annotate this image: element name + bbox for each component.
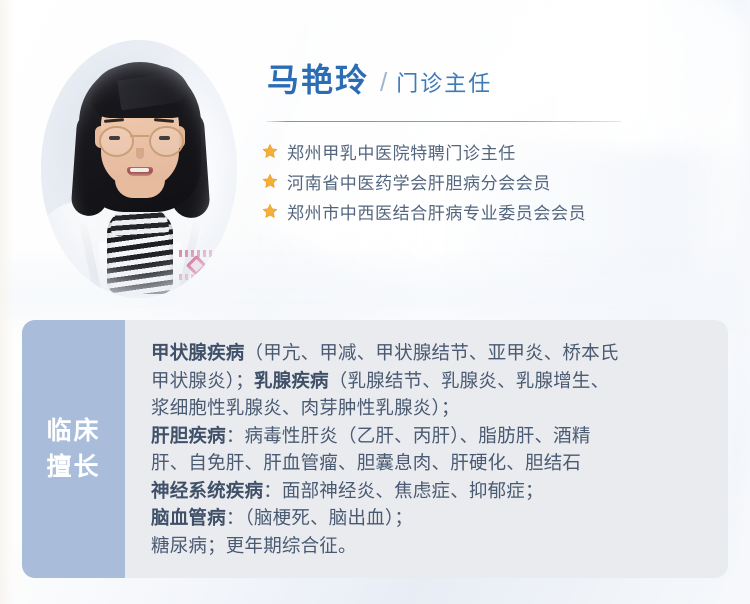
expertise-detail-text: ：面部神经炎、焦虑症、抑郁症；	[263, 480, 544, 501]
expertise-category-label: 甲状腺疾病	[151, 342, 245, 363]
name-title-separator: /	[380, 67, 387, 98]
list-item: 河南省中医药学会肝胆病分会会员	[262, 166, 586, 196]
expertise-detail-text: ：病毒性肝炎（乙肝、丙肝）、脂肪肝、酒精	[226, 425, 591, 446]
page-title: 马艳玲	[267, 64, 369, 96]
doctor-job-title: 门诊主任	[396, 73, 492, 95]
credential-text: 郑州市中西医结合肝病专业委员会会员	[287, 199, 586, 224]
expertise-detail-text: 糖尿病；更年期综合征。	[151, 535, 357, 556]
credential-text: 郑州甲乳中医院特聘门诊主任	[287, 139, 516, 164]
credentials-list: 郑州甲乳中医院特聘门诊主任 河南省中医药学会肝胆病分会会员 郑州市中西医结合肝病…	[262, 136, 586, 226]
header-divider	[266, 121, 621, 122]
star-icon	[262, 173, 278, 189]
expertise-text-block: 甲状腺疾病（甲亢、甲减、甲状腺结节、亚甲炎、桥本氏甲状腺炎）；乳腺疾病（乳腺结节…	[125, 320, 728, 578]
expertise-detail-text: 甲状腺炎）；	[151, 370, 254, 391]
expertise-detail-text: （乳腺结节、乳腺炎、乳腺增生、	[329, 370, 610, 391]
expertise-detail-text: 肝、自免肝、肝血管瘤、胆囊息肉、肝硬化、胆结石	[151, 452, 581, 473]
star-icon	[262, 203, 278, 219]
doctor-portrait	[41, 40, 237, 298]
expertise-category-label: 神经系统疾病	[151, 480, 263, 501]
portrait-vignette	[41, 40, 237, 298]
expertise-line: 甲状腺炎）；乳腺疾病（乳腺结节、乳腺炎、乳腺增生、	[151, 367, 718, 395]
expertise-line: 神经系统疾病：面部神经炎、焦虑症、抑郁症；	[151, 477, 718, 505]
list-item: 郑州甲乳中医院特聘门诊主任	[262, 136, 586, 166]
list-item: 郑州市中西医结合肝病专业委员会会员	[262, 196, 586, 226]
expertise-label-block: 临床 擅长	[22, 320, 125, 578]
expertise-category-label: 肝胆疾病	[151, 425, 226, 446]
doctor-name-row: 马艳玲 / 门诊主任	[267, 64, 492, 98]
expertise-detail-text: （甲亢、甲减、甲状腺结节、亚甲炎、桥本氏	[245, 342, 619, 363]
expertise-category-label: 乳腺疾病	[254, 370, 329, 391]
page-edge-left	[0, 0, 14, 604]
expertise-line: 浆细胞性乳腺炎、肉芽肿性乳腺炎）；	[151, 394, 718, 422]
expertise-line: 糖尿病；更年期综合征。	[151, 532, 718, 560]
doctor-profile-card: 马艳玲 / 门诊主任 郑州甲乳中医院特聘门诊主任 河南省中医药学会肝胆病分会会员…	[0, 0, 750, 604]
expertise-category-label: 脑血管病	[151, 507, 226, 528]
expertise-line: 脑血管病：（脑梗死、脑出血）；	[151, 504, 718, 532]
clinical-expertise-panel: 临床 擅长 甲状腺疾病（甲亢、甲减、甲状腺结节、亚甲炎、桥本氏甲状腺炎）；乳腺疾…	[22, 320, 728, 578]
expertise-line: 肝胆疾病：病毒性肝炎（乙肝、丙肝）、脂肪肝、酒精	[151, 422, 718, 450]
expertise-line: 甲状腺疾病（甲亢、甲减、甲状腺结节、亚甲炎、桥本氏	[151, 339, 718, 367]
expertise-detail-text: ：（脑梗死、脑出血）；	[226, 507, 413, 528]
expertise-label-line2: 擅长	[46, 449, 100, 485]
credential-text: 河南省中医药学会肝胆病分会会员	[287, 169, 551, 194]
expertise-line: 肝、自免肝、肝血管瘤、胆囊息肉、肝硬化、胆结石	[151, 449, 718, 477]
star-icon	[262, 143, 278, 159]
expertise-detail-text: 浆细胞性乳腺炎、肉芽肿性乳腺炎）；	[151, 397, 460, 418]
page-edge-right	[736, 0, 750, 604]
expertise-label-line1: 临床	[46, 413, 100, 449]
